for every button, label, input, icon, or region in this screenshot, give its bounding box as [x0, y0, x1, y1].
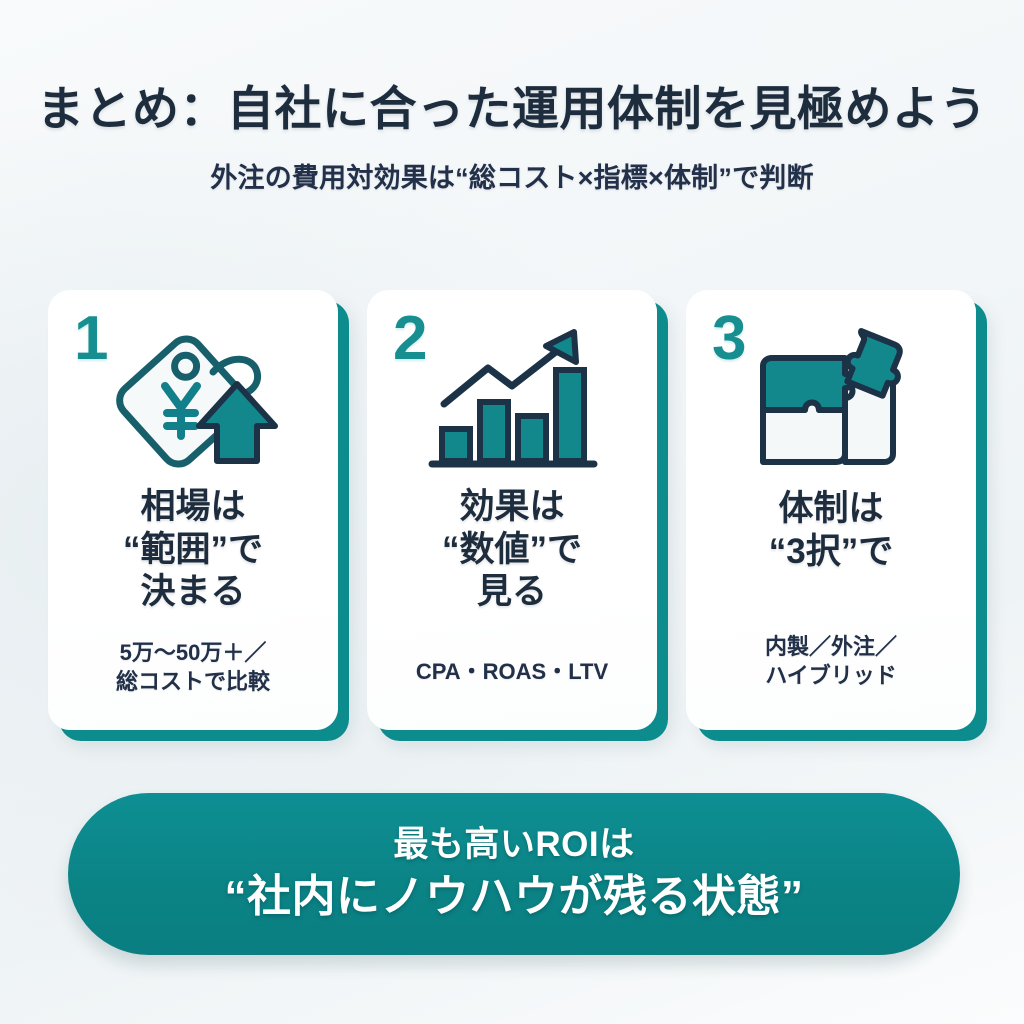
card-subtitle-line: ハイブリッド: [696, 661, 966, 690]
card-list: 1 相場は: [48, 290, 976, 730]
card-title-line: 効果は: [379, 486, 645, 529]
banner-line-2: “社内にノウハウが残る状態”: [225, 871, 804, 923]
page-title: まとめ：自社に合った運用体制を見極めよう: [0, 82, 1024, 136]
card-title-line: 決まる: [60, 571, 326, 614]
card-title-2: 効果は “数値”で 見る: [379, 486, 645, 614]
card-item-3[interactable]: 3 体制は “3択”で: [686, 290, 976, 730]
card-title-1: 相場は “範囲”で 決まる: [60, 486, 326, 614]
page-subtitle: 外注の費用対効果は“総コスト×指標×体制”で判断: [0, 162, 1024, 194]
card-title-line: “範囲”で: [60, 529, 326, 572]
card-subtitle-line: 総コストで比較: [58, 667, 328, 696]
card-subtitle-line: 内製／外注／: [696, 632, 966, 661]
conclusion-banner: 最も高いROIは “社内にノウハウが残る状態”: [68, 793, 960, 955]
puzzle-pieces-icon: [686, 320, 976, 485]
card-item-2[interactable]: 2 効果は “数値”で 見る CPA・ROAS・LTV: [367, 290, 657, 730]
card-title-3: 体制は “3択”で: [698, 488, 964, 573]
card-subtitle-3: 内製／外注／ ハイブリッド: [696, 632, 966, 690]
card-title-line: 相場は: [60, 486, 326, 529]
card-title-line: “3択”で: [698, 531, 964, 574]
card-title-line: 見る: [379, 571, 645, 614]
card-subtitle-2: CPA・ROAS・LTV: [377, 657, 647, 686]
banner-line-1: 最も高いROIは: [393, 825, 634, 865]
header: まとめ：自社に合った運用体制を見極めよう 外注の費用対効果は“総コスト×指標×体…: [0, 82, 1024, 194]
card-subtitle-line: CPA・ROAS・LTV: [377, 657, 647, 686]
card-title-line: “数値”で: [379, 529, 645, 572]
card-title-line: 体制は: [698, 488, 964, 531]
card-subtitle-line: 5万〜50万＋／: [58, 638, 328, 667]
bar-chart-growth-arrow-icon: [367, 320, 657, 485]
card-subtitle-1: 5万〜50万＋／ 総コストで比較: [58, 638, 328, 696]
infographic-root: まとめ：自社に合った運用体制を見極めよう 外注の費用対効果は“総コスト×指標×体…: [0, 0, 1024, 1024]
card-item-1[interactable]: 1 相場は: [48, 290, 338, 730]
price-tag-yen-arrow-up-icon: [48, 320, 338, 485]
